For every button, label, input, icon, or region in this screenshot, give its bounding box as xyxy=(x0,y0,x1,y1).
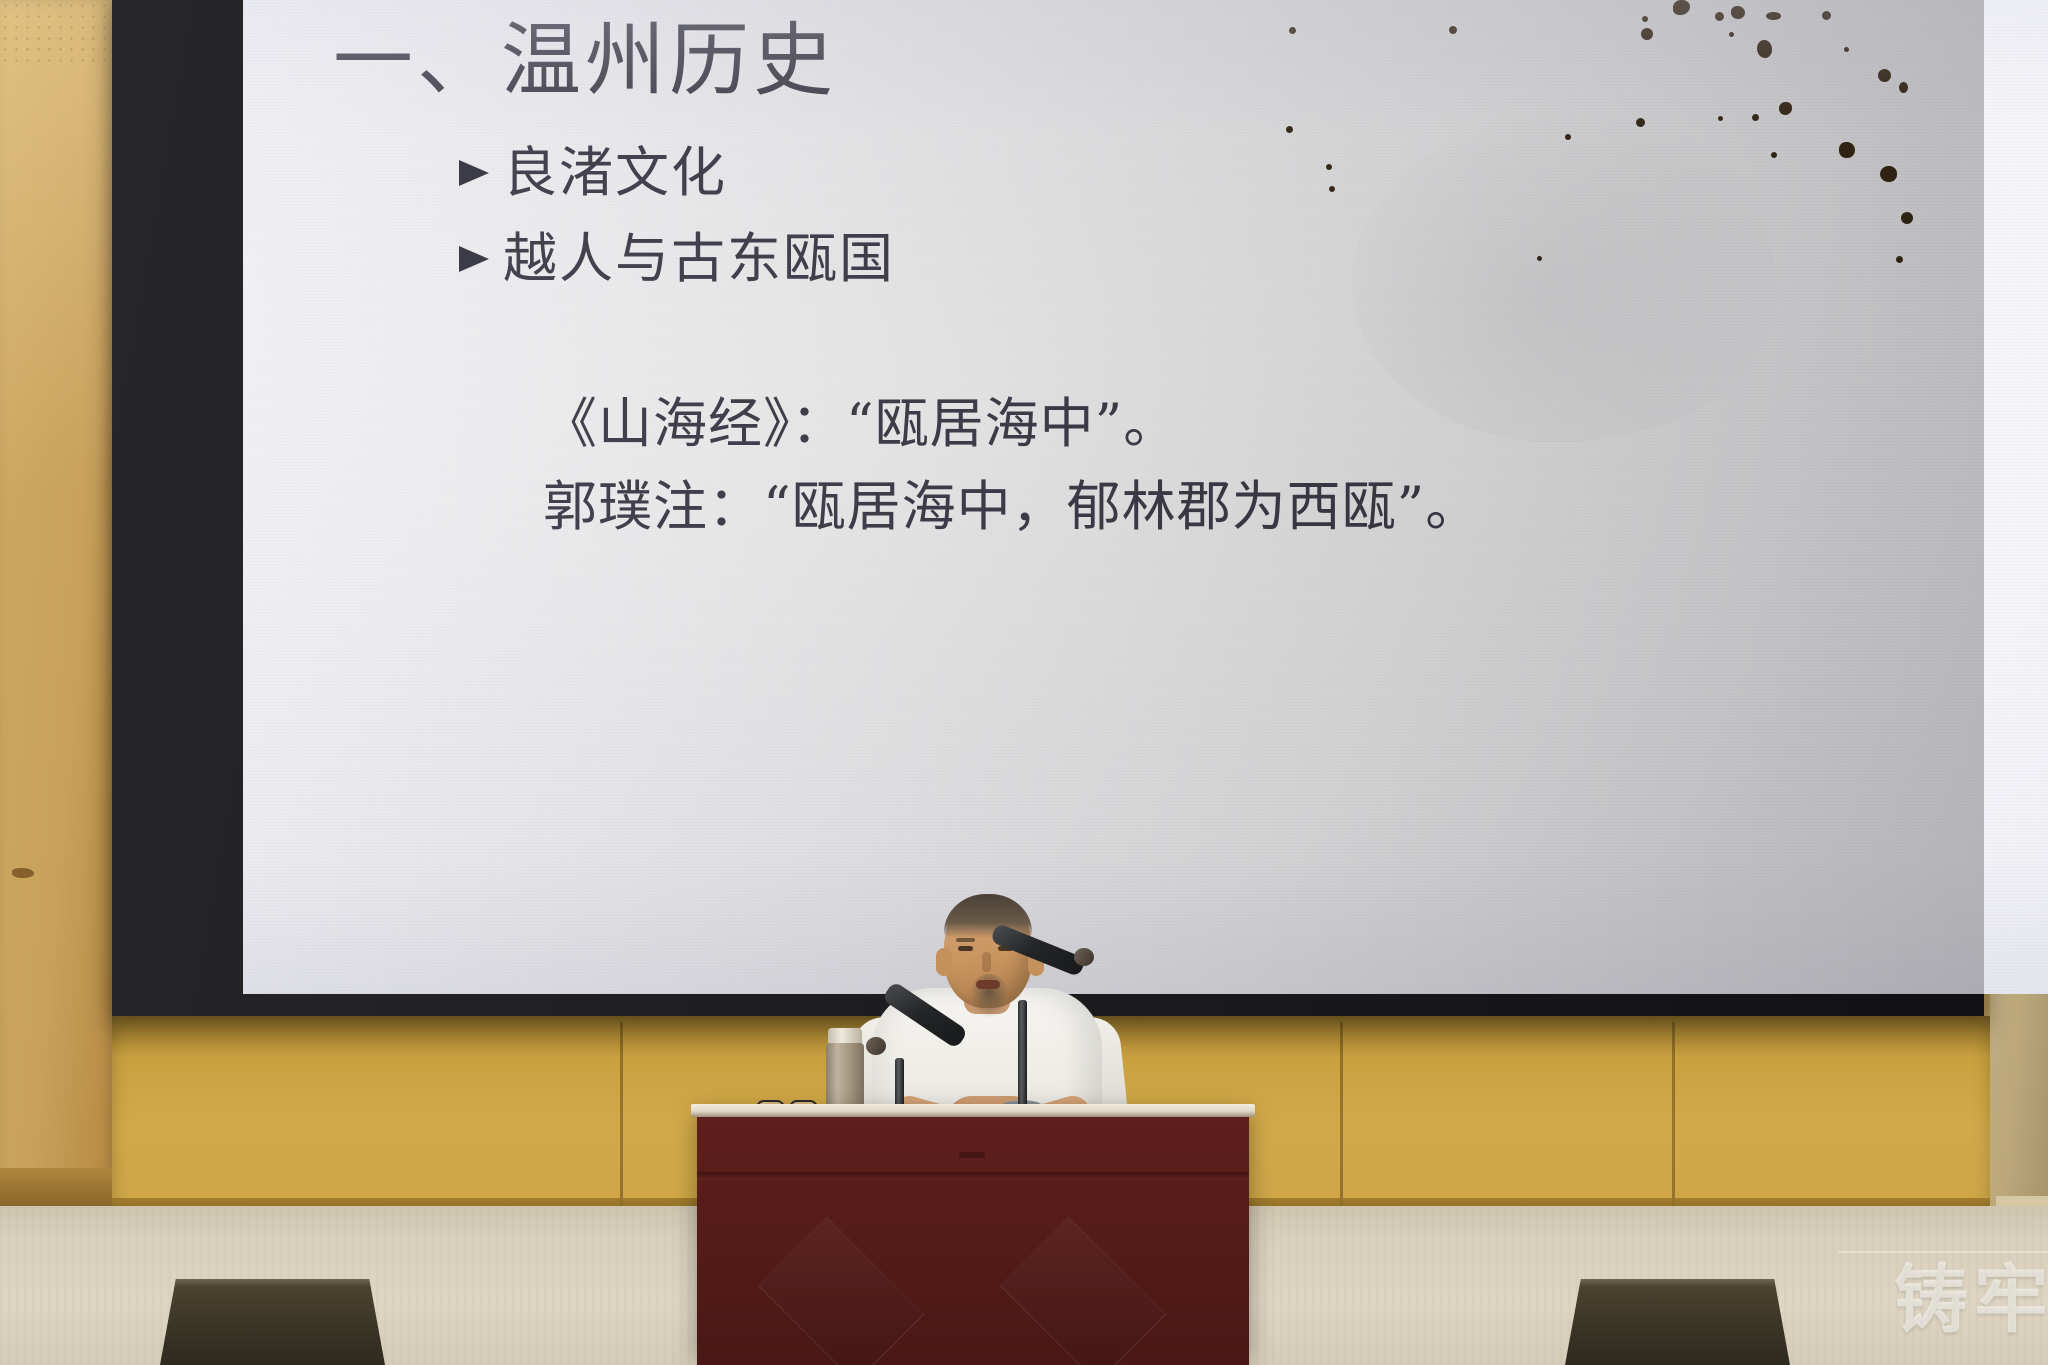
presenter-ear-left xyxy=(936,948,952,976)
stage-monitor-speaker-left xyxy=(160,1279,385,1365)
slide-bullet-item: 越人与古东瓯国 xyxy=(453,232,895,286)
mic-pole-right xyxy=(1018,1000,1027,1106)
wall-panel-seam xyxy=(1340,1022,1343,1208)
arrow-bullet-icon xyxy=(453,237,497,281)
watermark-rule xyxy=(1838,1251,2048,1253)
mic-tip-right xyxy=(1074,948,1094,966)
presenter-eyebrow-left xyxy=(956,938,975,942)
left-wall-column xyxy=(0,0,118,1240)
slide-bullet-text: 越人与古东瓯国 xyxy=(503,232,895,286)
podium-latch xyxy=(959,1152,985,1158)
slide-quote-block: 《山海经》：“瓯居海中”。 郭璞注：“瓯居海中，郁林郡为西瓯”。 xyxy=(543,382,1480,548)
projection-screen-frame: 一、温州历史 良渚文化 越人与古东瓯国 《山海经》：“瓯居海中”。 郭璞注：“瓯… xyxy=(112,0,1984,1020)
projection-screen-surface: 一、温州历史 良渚文化 越人与古东瓯国 《山海经》：“瓯居海中”。 郭璞注：“瓯… xyxy=(243,0,2048,994)
wall-panel-seam xyxy=(620,1022,623,1208)
slide-bullet-item: 良渚文化 xyxy=(453,146,895,200)
slide-bullet-list: 良渚文化 越人与古东瓯国 xyxy=(453,146,895,318)
slide-quote-line: 《山海经》：“瓯居海中”。 xyxy=(543,382,1480,465)
presenter-eye-left xyxy=(958,946,973,951)
slide-bullet-text: 良渚文化 xyxy=(503,146,727,200)
left-wall-base xyxy=(0,1168,120,1206)
slide-title: 一、温州历史 xyxy=(333,16,837,106)
lecture-hall-scene: 一、温州历史 良渚文化 越人与古东瓯国 《山海经》：“瓯居海中”。 郭璞注：“瓯… xyxy=(0,0,2048,1365)
podium-rail xyxy=(697,1172,1249,1180)
podium-diamond-panel-right xyxy=(1000,1217,1167,1365)
mic-tip-left xyxy=(866,1037,886,1055)
wall-scuff-mark xyxy=(12,868,34,878)
podium-top-surface xyxy=(691,1104,1255,1117)
slide-content: 一、温州历史 良渚文化 越人与古东瓯国 《山海经》：“瓯居海中”。 郭璞注：“瓯… xyxy=(243,0,2048,994)
mic-pole-left xyxy=(895,1058,904,1110)
presenter-mouth xyxy=(976,980,1000,989)
podium-diamond-panel-left xyxy=(758,1217,925,1365)
presenter-nose xyxy=(982,952,991,972)
stage-monitor-speaker-right xyxy=(1565,1279,1790,1365)
wall-panel-seam xyxy=(1672,1022,1675,1208)
podium xyxy=(697,1116,1249,1365)
slide-quote-line: 郭璞注：“瓯居海中，郁林郡为西瓯”。 xyxy=(543,465,1480,548)
arrow-bullet-icon xyxy=(453,151,497,195)
